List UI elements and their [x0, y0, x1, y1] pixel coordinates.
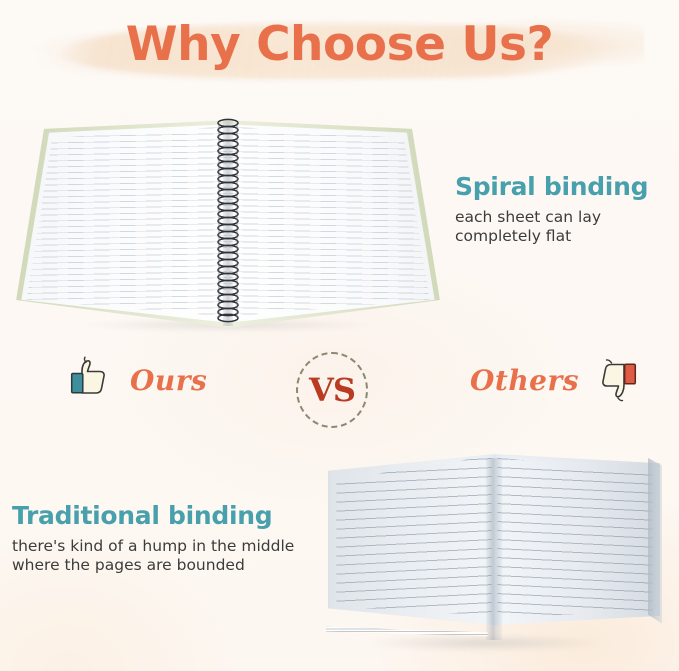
thumbs-down-icon — [593, 354, 645, 406]
spiral-description-line-1: each sheet can lay — [455, 208, 675, 227]
traditional-description-line-2: where the pages are bounded — [12, 556, 312, 575]
ours-group: Ours — [62, 354, 207, 406]
title-banner: Why Choose Us? — [0, 8, 679, 100]
vs-label: VS — [309, 374, 355, 406]
thumbs-up-icon — [62, 354, 114, 406]
spiral-binding-text-block: Spiral binding each sheet can lay comple… — [455, 173, 675, 246]
spiral-notebook-image — [14, 110, 442, 332]
ours-label: Ours — [130, 364, 207, 397]
spiral-wire-binding — [212, 117, 244, 323]
traditional-binding-text-block: Traditional binding there's kind of a hu… — [12, 502, 312, 575]
traditional-binding-heading: Traditional binding — [12, 502, 312, 530]
traditional-spine-hump — [486, 458, 502, 640]
traditional-notebook-image — [308, 448, 674, 656]
traditional-page-edge — [648, 458, 662, 638]
spiral-binding-heading: Spiral binding — [455, 173, 675, 201]
traditional-binding-description: there's kind of a hump in the middle whe… — [12, 537, 312, 576]
spiral-binding-description: each sheet can lay completely flat — [455, 208, 675, 247]
others-group: Others — [470, 354, 645, 406]
traditional-description-line-1: there's kind of a hump in the middle — [12, 537, 312, 556]
why-choose-us-infographic: Why Choose Us? — [0, 0, 679, 671]
spiral-description-line-2: completely flat — [455, 227, 675, 246]
vs-badge: VS — [296, 352, 368, 428]
others-label: Others — [470, 364, 579, 397]
page-title: Why Choose Us? — [0, 17, 679, 72]
